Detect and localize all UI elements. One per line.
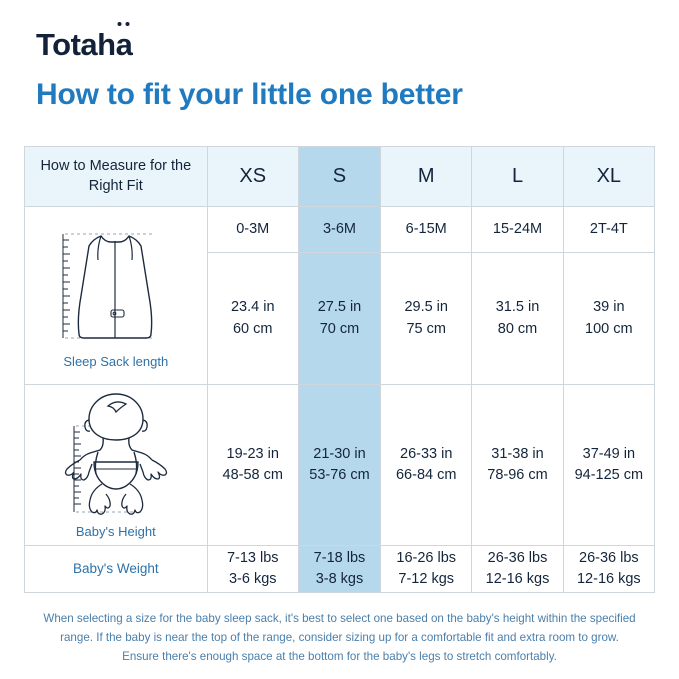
size-chart-page: Totaha How to fit your little one better… <box>0 0 679 679</box>
sleep-sack-length-caption: Sleep Sack length <box>63 354 168 370</box>
column-header-xs: XS <box>207 147 298 207</box>
baby-height-caption: Baby's Height <box>76 524 156 540</box>
baby-weight-label-cell: Baby's Weight <box>25 546 208 593</box>
age-cell-xs: 0-3M <box>207 207 298 253</box>
length-cell-l: 31.5 in80 cm <box>472 253 563 385</box>
column-header-s[interactable]: S <box>298 147 380 207</box>
sizing-note-line-2: range. If the baby is near the top of th… <box>24 629 655 648</box>
weight-cell-s[interactable]: 7-18 lbs3-8 kgs <box>298 546 380 593</box>
baby-illustration-icon <box>40 390 192 522</box>
weight-cell-xs: 7-13 lbs3-6 kgs <box>207 546 298 593</box>
page-title: How to fit your little one better <box>36 78 463 113</box>
age-cell-s[interactable]: 3-6M <box>298 207 380 253</box>
age-cell-l: 15-24M <box>472 207 563 253</box>
sleep-sack-illustration-cell: Sleep Sack length <box>25 207 208 385</box>
column-header-l: L <box>472 147 563 207</box>
height-cell-l: 31-38 in78-96 cm <box>472 385 563 546</box>
table-row-age: Sleep Sack length 0-3M 3-6M 6-15M 15-24M… <box>25 207 655 253</box>
size-chart-table: How to Measure for the Right Fit XS S M … <box>24 146 655 593</box>
height-cell-xl: 37-49 in94-125 cm <box>563 385 654 546</box>
table-header-row: How to Measure for the Right Fit XS S M … <box>25 147 655 207</box>
sizing-note-line-1: When selecting a size for the baby sleep… <box>24 610 655 629</box>
weight-cell-l: 26-36 lbs12-16 kgs <box>472 546 563 593</box>
age-cell-xl: 2T-4T <box>563 207 654 253</box>
column-header-xl: XL <box>563 147 654 207</box>
sizing-note: When selecting a size for the baby sleep… <box>24 610 655 666</box>
sizing-note-line-3: Ensure there's enough space at the botto… <box>24 648 655 667</box>
baby-illustration-cell: Baby's Height <box>25 385 208 546</box>
height-cell-m: 26-33 in66-84 cm <box>381 385 472 546</box>
length-cell-m: 29.5 in75 cm <box>381 253 472 385</box>
weight-cell-m: 16-26 lbs7-12 kgs <box>381 546 472 593</box>
age-cell-m: 6-15M <box>381 207 472 253</box>
height-cell-s[interactable]: 21-30 in53-76 cm <box>298 385 380 546</box>
sleep-sack-illustration-icon <box>41 222 191 352</box>
weight-cell-xl: 26-36 lbs12-16 kgs <box>563 546 654 593</box>
column-header-measure: How to Measure for the Right Fit <box>25 147 208 207</box>
column-header-m: M <box>381 147 472 207</box>
brand-umlaut-letter: a <box>116 29 133 60</box>
table-row-baby-weight: Baby's Weight 7-13 lbs3-6 kgs 7-18 lbs3-… <box>25 546 655 593</box>
length-cell-xl: 39 in100 cm <box>563 253 654 385</box>
brand-logo: Totaha <box>36 29 132 60</box>
length-cell-xs: 23.4 in60 cm <box>207 253 298 385</box>
length-cell-s[interactable]: 27.5 in70 cm <box>298 253 380 385</box>
brand-name-part2: a <box>116 27 133 62</box>
table-row-baby-height: Baby's Height 19-23 in48-58 cm 21-30 in5… <box>25 385 655 546</box>
umlaut-dots-icon <box>116 22 131 27</box>
brand-name-part1: Totah <box>36 27 116 62</box>
height-cell-xs: 19-23 in48-58 cm <box>207 385 298 546</box>
